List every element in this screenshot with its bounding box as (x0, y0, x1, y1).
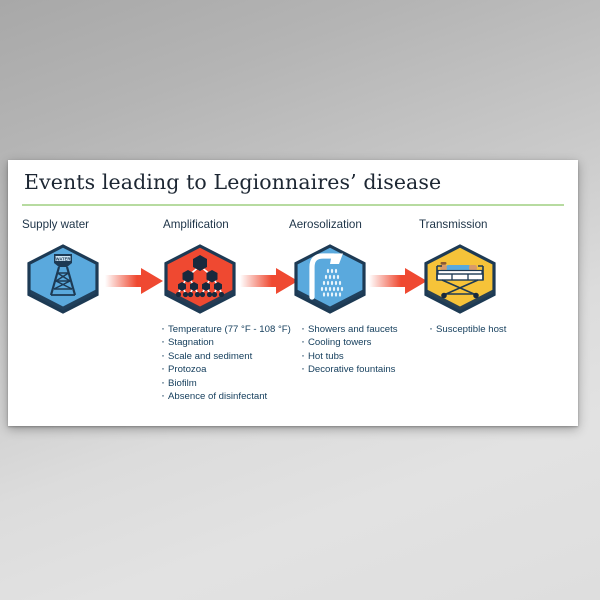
list-item: Cooling towers (300, 336, 398, 349)
list-item: Temperature (77 °F - 108 °F) (160, 323, 291, 336)
stage-header-aerosolization: Aerosolization (289, 218, 362, 231)
list-item: Hot tubs (300, 350, 398, 363)
bullet-list-transmission: Susceptible host (428, 323, 506, 336)
stage-header-amplification: Amplification (163, 218, 229, 231)
water-tower-icon: WATER (26, 245, 100, 313)
shower-head-icon (293, 245, 367, 313)
bacteria-multiplication-icon (163, 245, 237, 313)
title-underline-rule (22, 204, 564, 206)
bullet-list-amplification: Temperature (77 °F - 108 °F) Stagnation … (160, 323, 291, 403)
svg-text:WATER: WATER (56, 256, 71, 261)
list-item: Biofilm (160, 377, 291, 390)
page-title: Events leading to Legionnaires’ disease (24, 170, 441, 194)
list-item: Absence of disinfectant (160, 390, 291, 403)
list-item: Susceptible host (428, 323, 506, 336)
arrow-supply-to-amplification (105, 266, 165, 296)
infographic-card: Events leading to Legionnaires’ disease … (8, 160, 578, 426)
arrow-aerosolization-to-transmission (369, 266, 429, 296)
list-item: Stagnation (160, 336, 291, 349)
stage-header-transmission: Transmission (419, 218, 488, 231)
patient-on-gurney-icon (423, 245, 497, 313)
bullet-list-aerosolization: Showers and faucets Cooling towers Hot t… (300, 323, 398, 377)
list-item: Decorative fountains (300, 363, 398, 376)
infographic-canvas: Events leading to Legionnaires’ disease … (0, 0, 600, 600)
stage-header-supply-water: Supply water (22, 218, 89, 231)
arrow-amplification-to-aerosolization (240, 266, 300, 296)
list-item: Protozoa (160, 363, 291, 376)
list-item: Scale and sediment (160, 350, 291, 363)
list-item: Showers and faucets (300, 323, 398, 336)
